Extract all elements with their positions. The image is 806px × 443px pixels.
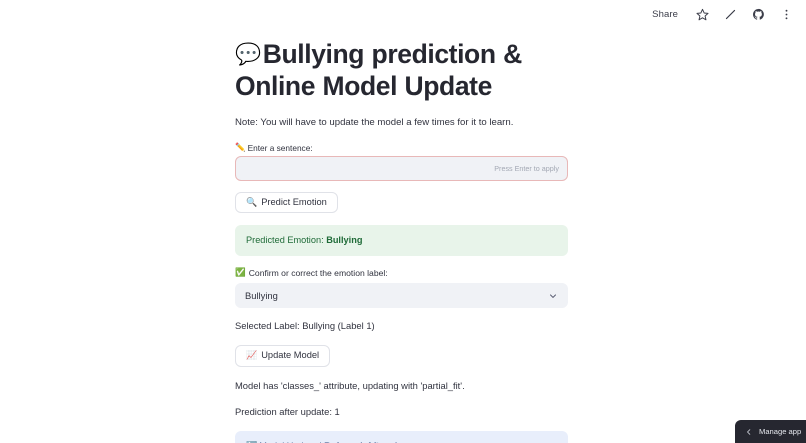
update-model-button[interactable]: 📈 Update Model — [235, 345, 330, 366]
main-content: 💬Bullying prediction & Online Model Upda… — [235, 38, 568, 443]
chevron-left-icon — [745, 428, 753, 436]
manage-app-label: Manage app — [759, 427, 801, 436]
streamlit-app-root: Share 💬Bullying prediction & O — [0, 0, 806, 443]
github-icon[interactable] — [751, 7, 766, 22]
share-button[interactable]: Share — [648, 6, 682, 23]
update-model-button-label: Update Model — [261, 351, 319, 360]
predict-emotion-button-label: Predict Emotion — [261, 198, 327, 207]
predict-emotion-button[interactable]: 🔍 Predict Emotion — [235, 192, 338, 213]
predicted-emotion-prefix: Predicted Emotion: — [246, 235, 326, 245]
check-mark-icon: ✅ — [235, 267, 246, 278]
predicted-emotion-value: Bullying — [326, 235, 362, 245]
magnifier-icon: 🔍 — [246, 198, 257, 207]
star-icon[interactable] — [695, 7, 710, 22]
speech-balloon-icon: 💬 — [235, 43, 261, 66]
update-button-row: 📈 Update Model — [235, 345, 568, 366]
manage-app-button[interactable]: Manage app — [735, 420, 806, 443]
emotion-label-select[interactable]: Bullying — [235, 283, 568, 308]
press-enter-hint: Press Enter to apply — [488, 164, 559, 173]
chart-increasing-icon: 📈 — [246, 351, 257, 360]
app-toolbar: Share — [648, 0, 806, 28]
model-updated-alert: 🔄Model Updated Before: 1 After: 1 — [235, 431, 568, 443]
status-line-prediction: Prediction after update: 1 — [235, 405, 568, 419]
sentence-input-label: ✏️ Enter a sentence: — [235, 142, 568, 153]
selected-label-text: Selected Label: Bullying (Label 1) — [235, 319, 568, 333]
predicted-emotion-alert: Predicted Emotion: Bullying — [235, 225, 568, 256]
confirm-label-checkbox-text: Confirm or correct the emotion label: — [249, 268, 388, 278]
confirm-label-checkbox[interactable]: ✅ Confirm or correct the emotion label: — [235, 267, 568, 278]
overflow-menu-icon[interactable] — [779, 7, 794, 22]
chevron-down-icon[interactable] — [548, 291, 558, 301]
page-title-text: Bullying prediction & Online Model Updat… — [235, 39, 522, 101]
sentence-input[interactable] — [244, 163, 488, 174]
pencil-icon: ✏️ — [235, 142, 246, 153]
emotion-label-select-value: Bullying — [245, 290, 278, 301]
edit-pencil-icon[interactable] — [723, 7, 738, 22]
predict-button-row: 🔍 Predict Emotion — [235, 192, 568, 213]
status-line-classes: Model has 'classes_' attribute, updating… — [235, 379, 568, 393]
page-title: 💬Bullying prediction & Online Model Upda… — [235, 38, 568, 103]
page-note: Note: You will have to update the model … — [235, 116, 568, 130]
sentence-input-wrapper[interactable]: Press Enter to apply — [235, 156, 568, 181]
sentence-input-label-text: Enter a sentence: — [248, 143, 313, 153]
